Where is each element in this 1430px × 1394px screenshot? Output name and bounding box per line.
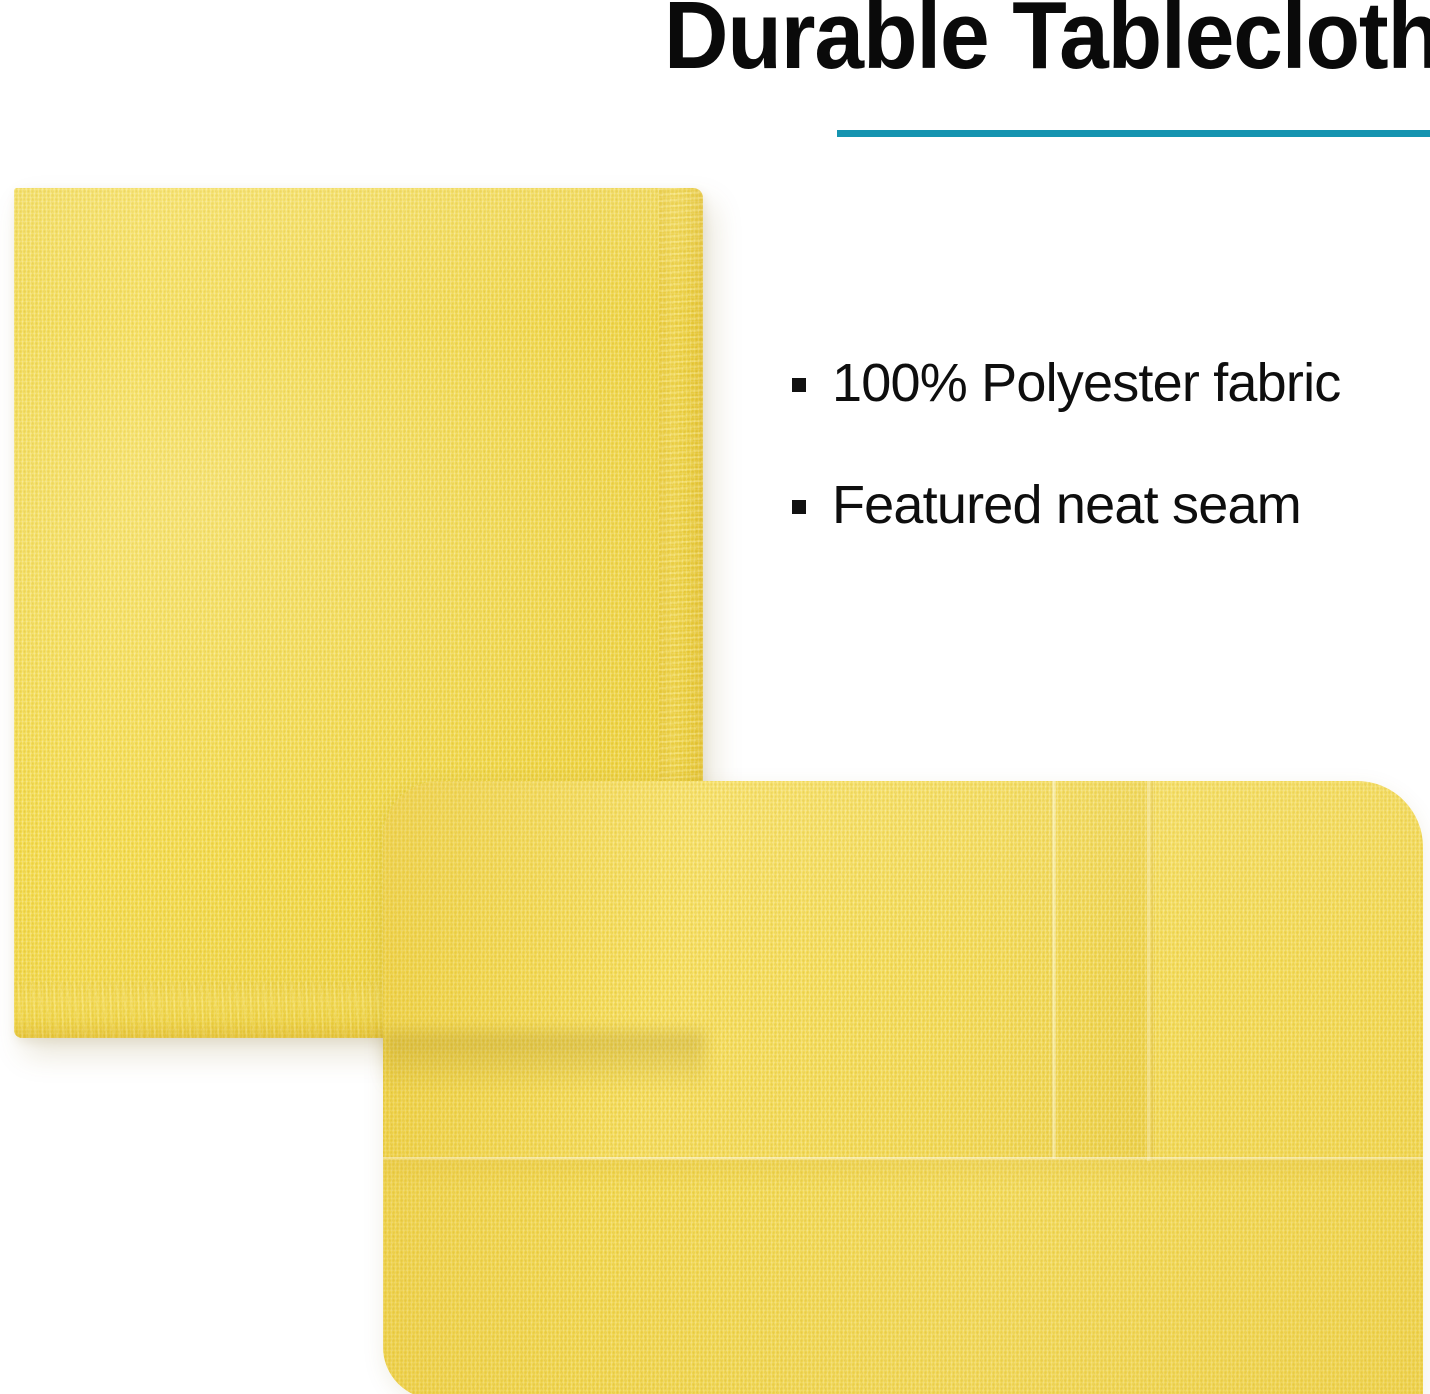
feature-label: Featured neat seam	[832, 475, 1301, 535]
list-item: 100% Polyester fabric	[788, 352, 1428, 414]
headline-block: Durable Tablecloth	[660, 0, 1430, 148]
page-title: Durable Tablecloth	[664, 0, 1430, 84]
product-feature-image: Durable Tablecloth 100% Polyester fabric…	[0, 0, 1430, 1394]
square-bullet-icon	[792, 378, 806, 392]
feature-label: 100% Polyester fabric	[832, 353, 1340, 413]
flat-tablecloth-corner	[383, 781, 1423, 1394]
fabric-shading	[383, 781, 1423, 1394]
title-underline-rule	[837, 130, 1430, 137]
square-bullet-icon	[792, 500, 806, 514]
list-item: Featured neat seam	[788, 474, 1428, 536]
feature-list: 100% Polyester fabric Featured neat seam	[788, 352, 1428, 596]
